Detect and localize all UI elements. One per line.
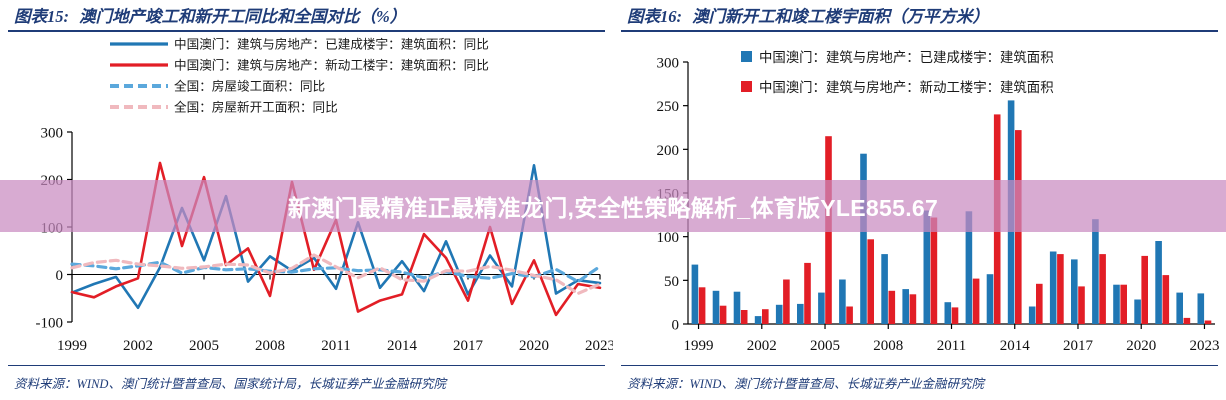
figure-16-source: 资料来源：WIND、澳门统计暨普查局、长城证券产业金融研究院: [627, 373, 1218, 392]
bar-0-2006: [839, 280, 846, 325]
bar-1-2006: [846, 307, 853, 325]
x-tick-label: 2008: [255, 338, 285, 354]
bar-1-2015: [1036, 284, 1043, 324]
legend-label-1: 中国澳门：建筑与房地产：新动工楼宇：建筑面积：同比: [174, 58, 489, 73]
bar-1-1999: [699, 287, 706, 324]
bar-0-2002: [755, 316, 762, 324]
y-tick-label: 300: [657, 56, 680, 72]
bar-0-1999: [692, 265, 699, 324]
figure-15-title: 图表15:澳门地产竣工和新开工同比和全国对比（%）: [14, 3, 603, 29]
bar-1-2001: [741, 310, 748, 324]
figure-15-title-text: 澳门地产竣工和新开工同比和全国对比（%）: [79, 7, 406, 26]
x-tick-label: 2017: [1063, 338, 1094, 354]
x-tick-label: 2002: [123, 338, 153, 354]
y-tick-label: -100: [36, 316, 64, 332]
bar-1-2021: [1163, 275, 1170, 324]
legend-label-0: 中国澳门：建筑与房地产：已建成楼宇：建筑面积：同比: [174, 37, 489, 52]
figure-15-bottom-rule: [8, 365, 605, 367]
y-tick-label: 250: [657, 99, 680, 115]
bar-1-2012: [973, 279, 980, 324]
x-tick-label: 2014: [1000, 338, 1031, 354]
bar-1-2009: [910, 294, 917, 324]
x-tick-label: 2017: [453, 338, 484, 354]
bar-1-2000: [720, 306, 727, 324]
bar-1-2011: [952, 307, 959, 324]
x-tick-label: 1999: [684, 338, 714, 354]
watermark-text: 新澳门最精准正最精准龙门,安全性策略解析_体育版YLE855.67: [0, 180, 1226, 232]
figure-16-title: 图表16:澳门新开工和竣工楼宇面积（万平方米）: [627, 3, 1216, 29]
bar-0-2020: [1134, 300, 1141, 325]
bar-1-2023: [1205, 321, 1212, 325]
figures-page: 图表15:澳门地产竣工和新开工同比和全国对比（%） -1000100200300…: [0, 0, 1226, 400]
figure-15-source: 资料来源：WIND、澳门统计暨普查局、国家统计局，长城证券产业金融研究院: [14, 373, 605, 392]
bar-0-2001: [734, 292, 741, 324]
figure-16-title-text: 澳门新开工和竣工楼宇面积（万平方米）: [692, 7, 989, 26]
bar-0-2022: [1176, 293, 1183, 324]
x-tick-label: 2008: [873, 338, 903, 354]
legend-swatch-0: [741, 51, 752, 62]
y-tick-label: 0: [672, 318, 680, 334]
bar-0-2004: [797, 304, 804, 324]
legend-label-3: 全国：房屋新开工面积：同比: [174, 100, 338, 115]
bar-0-2003: [776, 305, 783, 324]
bar-0-2011: [945, 302, 952, 324]
x-tick-label: 2011: [937, 338, 966, 354]
figure-16-label: 图表16:: [627, 7, 682, 26]
bar-1-2010: [931, 218, 938, 325]
bar-0-2009: [902, 289, 909, 324]
bar-0-2017: [1071, 259, 1078, 324]
legend-label-1: 中国澳门：建筑与房地产：新动工楼宇：建筑面积: [759, 80, 1054, 95]
figure-16-bottom-rule: [621, 365, 1218, 367]
bar-1-2008: [889, 291, 896, 324]
x-tick-label: 2002: [747, 338, 777, 354]
bar-0-2021: [1155, 241, 1162, 324]
bar-0-2015: [1029, 307, 1036, 325]
bar-1-2016: [1057, 254, 1064, 324]
bar-1-2004: [804, 263, 811, 324]
x-tick-label: 2005: [810, 338, 840, 354]
bar-0-2008: [881, 254, 888, 324]
x-tick-label: 2023: [1189, 338, 1219, 354]
bar-0-2013: [987, 274, 994, 324]
x-tick-label: 2020: [519, 338, 549, 354]
x-tick-label: 2014: [387, 338, 418, 354]
bar-0-2016: [1050, 252, 1057, 325]
bar-1-2022: [1184, 318, 1191, 324]
x-tick-label: 2011: [321, 338, 350, 354]
y-tick-label: 100: [657, 230, 680, 246]
bar-0-2018: [1092, 219, 1099, 324]
bar-1-2002: [762, 309, 769, 324]
y-tick-label: 0: [56, 268, 64, 284]
bar-1-2003: [783, 280, 790, 325]
bar-1-2020: [1141, 256, 1148, 324]
bar-1-2007: [867, 239, 874, 324]
bar-1-2017: [1078, 286, 1085, 324]
bar-1-2018: [1099, 254, 1106, 324]
x-tick-label: 1999: [57, 338, 87, 354]
legend-label-0: 中国澳门：建筑与房地产：已建成楼宇：建筑面积: [759, 50, 1054, 65]
figure-15-label: 图表15:: [14, 7, 69, 26]
y-tick-label: 50: [664, 274, 679, 290]
legend-label-2: 全国：房屋竣工面积：同比: [174, 79, 325, 94]
x-tick-label: 2023: [585, 338, 613, 354]
legend-swatch-1: [741, 81, 752, 92]
bar-0-2005: [818, 293, 825, 324]
bar-0-2000: [713, 291, 720, 324]
x-tick-label: 2005: [189, 338, 219, 354]
y-tick-label: 200: [657, 143, 680, 159]
x-tick-label: 2020: [1126, 338, 1156, 354]
bar-0-2023: [1198, 293, 1205, 324]
bar-0-2019: [1113, 285, 1120, 324]
y-tick-label: 300: [41, 126, 64, 142]
bar-1-2019: [1120, 285, 1127, 324]
